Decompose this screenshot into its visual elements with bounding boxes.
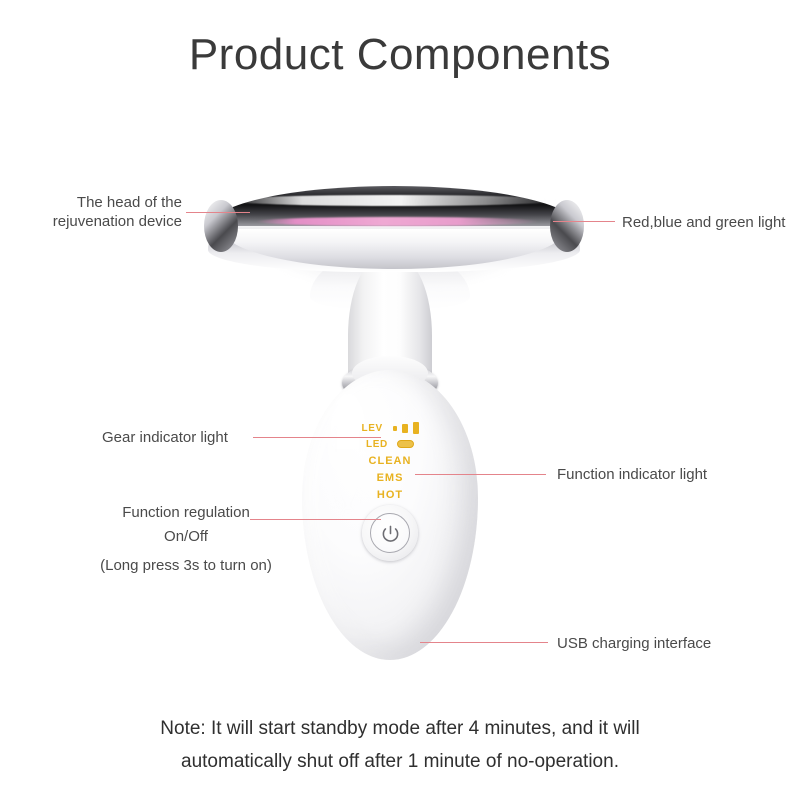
mode-label-clean: CLEAN (369, 455, 412, 467)
callout-head-label: The head of the rejuvenation device (20, 193, 182, 231)
head-tip-right (550, 200, 584, 252)
panel-row-hot: HOT (302, 486, 478, 503)
lev-label: LEV (362, 423, 388, 434)
callout-function-regulation-line2: On/Off (86, 527, 286, 546)
panel-row-ems: EMS (302, 469, 478, 486)
leader-line-light (553, 221, 615, 222)
leader-line-function-indicator (415, 474, 546, 475)
head-highlight (230, 195, 557, 206)
device-head (208, 186, 580, 272)
page-title: Product Components (0, 30, 800, 80)
product-components-diagram: Product Components LEV (0, 0, 800, 800)
level-bar-medium-icon (402, 424, 408, 433)
led-label: LED (366, 439, 392, 450)
led-pill-icon (397, 440, 414, 448)
mode-label-ems: EMS (377, 472, 404, 484)
panel-row-led: LED (302, 436, 478, 452)
level-bar-large-icon (413, 422, 419, 434)
callout-function-indicator-label: Function indicator light (557, 465, 757, 484)
footer-note-line2: automatically shut off after 1 minute of… (0, 745, 800, 778)
callout-light-label: Red,blue and green light (622, 213, 800, 232)
level-bar-small-icon (393, 426, 397, 431)
footer-note-line1: Note: It will start standby mode after 4… (160, 718, 639, 739)
leader-line-usb (420, 642, 548, 643)
callout-usb-label: USB charging interface (557, 634, 777, 653)
device-illustration: LEV LED CLEAN EMS HOT (190, 180, 590, 670)
footer-note: Note: It will start standby mode after 4… (0, 712, 800, 778)
head-tip-left (204, 200, 238, 252)
callout-function-regulation-line1: Function regulation (86, 503, 286, 522)
indicator-panel: LEV LED CLEAN EMS HOT (302, 420, 478, 503)
leader-line-gear (253, 437, 381, 438)
leader-line-head (186, 212, 250, 213)
callout-gear-label: Gear indicator light (102, 428, 262, 447)
panel-row-clean: CLEAN (302, 452, 478, 469)
panel-row-lev: LEV (302, 420, 478, 436)
callout-function-regulation-line3: (Long press 3s to turn on) (56, 556, 316, 575)
mode-label-hot: HOT (377, 489, 403, 501)
